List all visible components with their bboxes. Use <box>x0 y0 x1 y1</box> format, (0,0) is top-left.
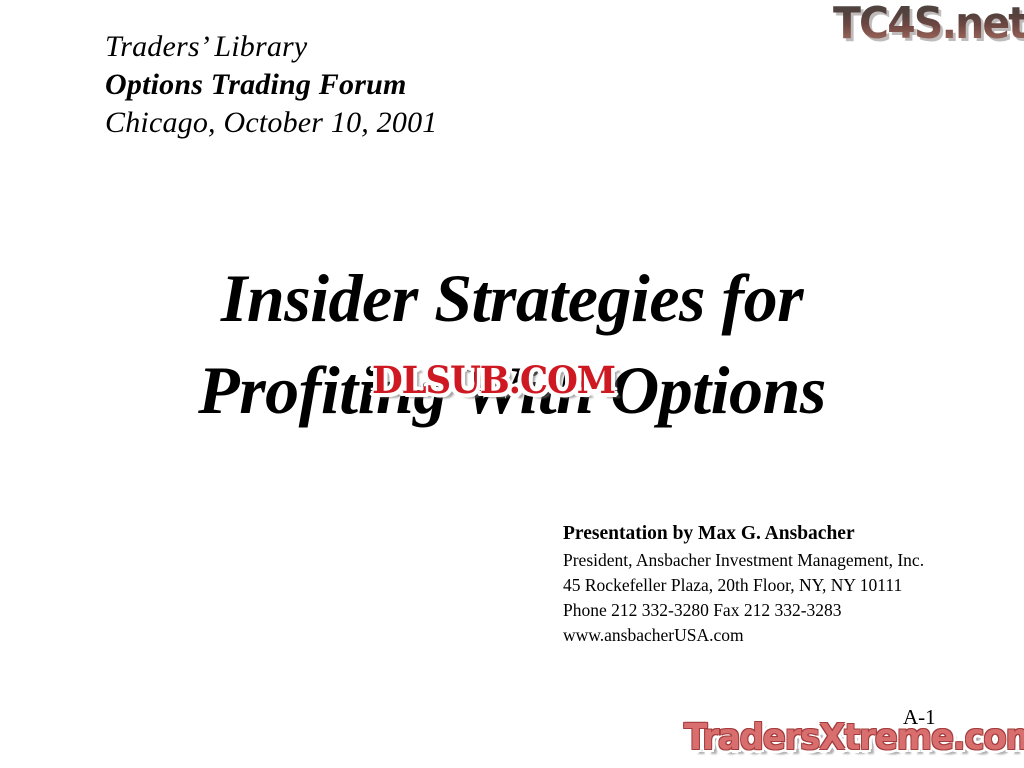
title-line-1: Insider Strategies for <box>0 252 1024 344</box>
presenter-address: 45 Rockefeller Plaza, 20th Floor, NY, NY… <box>563 573 924 598</box>
tc4s-watermark: TC4S.net <box>833 2 1024 46</box>
event-header: Traders’ Library Options Trading Forum C… <box>105 28 437 141</box>
presentation-slide: TC4S.net Traders’ Library Options Tradin… <box>0 0 1024 768</box>
event-name: Options Trading Forum <box>105 66 437 104</box>
presenter-phone-fax: Phone 212 332-3280 Fax 212 332-3283 <box>563 598 924 623</box>
presenter-name: Presentation by Max G. Ansbacher <box>563 519 924 548</box>
page-title: Insider Strategies for Profiting With Op… <box>0 252 1024 437</box>
presenter-info: Presentation by Max G. Ansbacher Preside… <box>563 519 924 648</box>
dlsub-watermark: DLSUB.COM <box>372 360 615 401</box>
presenter-title: President, Ansbacher Investment Manageme… <box>563 548 924 573</box>
presenter-website: www.ansbacherUSA.com <box>563 623 924 648</box>
event-location-date: Chicago, October 10, 2001 <box>105 104 437 142</box>
tradersxtreme-watermark: TradersXtreme.com <box>684 718 1024 758</box>
event-organizer: Traders’ Library <box>105 28 437 66</box>
